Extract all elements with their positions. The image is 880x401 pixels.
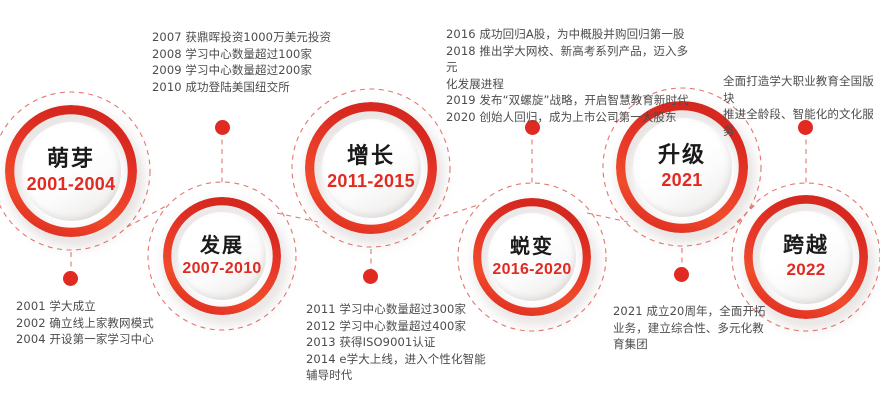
node-inner: 跨越 2022 [760,211,853,304]
milestone-node-3[interactable]: 增长 2011-2015 [305,102,437,234]
node-years-label: 2021 [661,171,702,191]
node-inner: 升级 2021 [633,118,732,217]
node-years-label: 2011-2015 [327,172,415,192]
milestone-node-1[interactable]: 萌芽 2001-2004 [5,105,137,237]
node-inner: 增长 2011-2015 [322,119,421,218]
node-phase-label: 萌芽 [47,147,95,171]
node-years-label: 2022 [786,261,825,280]
note-block-1: 2001 学大成立 2002 确立线上家教网模式 2004 开设第一家学习中心 [16,298,206,348]
stem-dot-2 [215,120,230,135]
link-2-3 [277,213,318,222]
note-block-5: 2021 成立20周年，全面开拓 业务，建立综合性、多元化教 育集团 [613,303,783,353]
link-3-4 [426,205,478,222]
node-inner: 萌芽 2001-2004 [22,122,121,221]
milestone-node-4[interactable]: 蜕变 2016-2020 [473,198,591,316]
node-phase-label: 蜕变 [510,236,554,258]
link-5-6 [737,205,755,222]
node-phase-label: 跨越 [783,234,829,257]
stem-dot-5 [674,267,689,282]
note-block-2: 2007 获鼎晖投资1000万美元投资 2008 学习中心数量超过100家 20… [152,29,367,95]
node-years-label: 2016-2020 [492,261,571,279]
node-phase-label: 升级 [658,143,706,167]
node-years-label: 2007-2010 [182,260,261,278]
node-phase-label: 发展 [200,235,244,257]
timeline-infographic: 萌芽 2001-2004 发展 2007-2010 增长 2011-2015 蜕… [0,0,880,401]
link-4-5 [587,213,628,222]
node-inner: 蜕变 2016-2020 [488,213,577,302]
note-block-4: 2016 成功回归A股，为中概股并购回归第一股 2018 推出学大网校、新高考系… [446,26,698,125]
node-years-label: 2001-2004 [27,175,116,195]
note-block-6: 全面打造学大职业教育全国版块 推进全龄段、智能化的文化服务 [723,73,880,139]
link-1-2 [127,205,168,227]
stem-dot-1 [63,271,78,286]
node-inner: 发展 2007-2010 [178,212,267,301]
note-block-3: 2011 学习中心数量超过300家 2012 学习中心数量超过400家 2013… [306,301,506,384]
stem-dot-3 [363,269,378,284]
node-phase-label: 增长 [347,144,395,168]
milestone-node-6[interactable]: 跨越 2022 [744,195,868,319]
